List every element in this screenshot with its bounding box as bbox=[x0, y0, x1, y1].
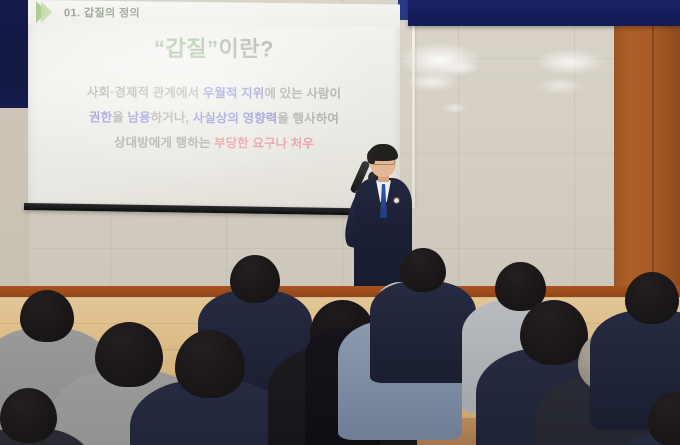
slide-header: 01. 갑질의 정의 bbox=[28, 0, 400, 26]
audience-head bbox=[0, 388, 57, 443]
navy-banner-right bbox=[408, 0, 680, 26]
navy-banner-left bbox=[0, 0, 28, 108]
slide-body-line-2: 권한을 남용하거나, 사실상의 영향력을 행사하여 bbox=[28, 105, 400, 132]
text-segment: 부당한 요구나 처우 bbox=[214, 136, 314, 151]
double-chevron-right-icon bbox=[36, 1, 46, 23]
slide-title: “갑질”이란? bbox=[28, 30, 400, 64]
wood-wall-right bbox=[614, 0, 680, 292]
audience-head bbox=[400, 248, 446, 292]
lecture-photo: 01. 갑질의 정의 “갑질”이란? 사회·경제적 관계에서 우월적 지위에 있… bbox=[0, 0, 680, 445]
text-segment: 남용 bbox=[127, 111, 150, 125]
speaker-hair-side bbox=[367, 150, 375, 164]
projection-screen: 01. 갑질의 정의 “갑질”이란? 사회·경제적 관계에서 우월적 지위에 있… bbox=[28, 0, 400, 213]
slide-body-line-1: 사회·경제적 관계에서 우월적 지위에 있는 사람이 bbox=[28, 80, 400, 107]
audience-member bbox=[370, 248, 475, 394]
slide-title-quoted: “갑질” bbox=[154, 36, 218, 61]
audience-torso bbox=[370, 281, 475, 383]
audience-head bbox=[230, 255, 280, 303]
audience-head bbox=[648, 392, 680, 445]
text-segment: 을 bbox=[112, 111, 127, 125]
text-segment: 하거나, bbox=[151, 111, 193, 125]
slide-body-line-3: 상대방에게 행하는 부당한 요구나 처우 bbox=[28, 130, 400, 157]
wall-left-section bbox=[0, 96, 30, 296]
audience-member bbox=[130, 330, 291, 445]
text-segment: 사회·경제적 관계에서 bbox=[87, 85, 203, 100]
text-segment: 상대방에게 행하는 bbox=[114, 136, 214, 151]
slide-title-suffix: 이란? bbox=[219, 36, 274, 61]
audience-head bbox=[175, 330, 245, 398]
text-segment: 권한 bbox=[89, 110, 112, 124]
text-segment: 사실상의 영향력 bbox=[193, 111, 278, 126]
text-segment: 을 행사하여 bbox=[277, 112, 339, 126]
audience-head bbox=[625, 272, 679, 324]
speaker-lapel-pin bbox=[394, 198, 399, 203]
audience-member bbox=[611, 392, 680, 445]
slide-section-label: 01. 갑질의 정의 bbox=[64, 4, 140, 20]
text-segment: 우월적 지위 bbox=[203, 86, 265, 100]
text-segment: 에 있는 사람이 bbox=[264, 86, 341, 100]
audience-member bbox=[0, 388, 93, 445]
slide-body: 사회·경제적 관계에서 우월적 지위에 있는 사람이권한을 남용하거나, 사실상… bbox=[28, 80, 400, 157]
